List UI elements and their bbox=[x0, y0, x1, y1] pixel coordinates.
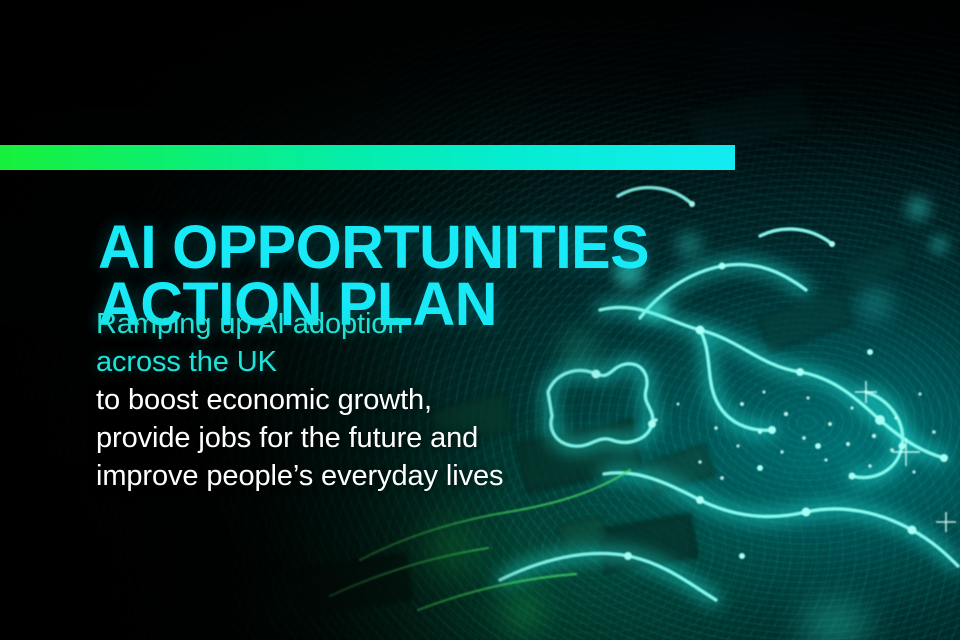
subtitle-line-5: improve people’s everyday lives bbox=[96, 458, 656, 496]
subtitle-line-1: Ramping up AI adoption bbox=[96, 306, 656, 344]
poster-content: AI OPPORTUNITIES ACTION PLAN Ramping up … bbox=[0, 0, 960, 640]
poster: AI OPPORTUNITIES ACTION PLAN Ramping up … bbox=[0, 0, 960, 640]
subtitle-line-3: to boost economic growth, bbox=[96, 382, 656, 420]
subtitle-line-2: across the UK bbox=[96, 344, 656, 382]
subtitle-block: Ramping up AI adoption across the UK to … bbox=[96, 306, 656, 496]
gradient-accent-bar bbox=[0, 145, 735, 170]
subtitle-line-4: provide jobs for the future and bbox=[96, 420, 656, 458]
